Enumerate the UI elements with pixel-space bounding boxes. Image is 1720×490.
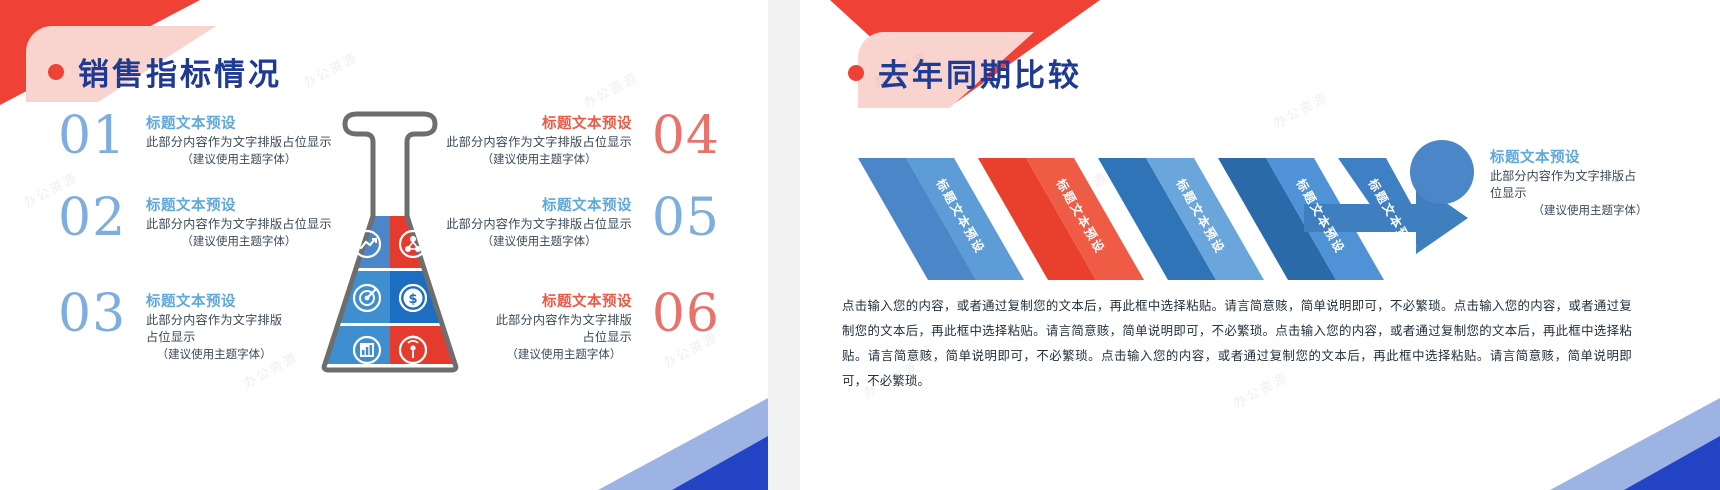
callout-note: （建议使用主题字体）: [1500, 202, 1680, 219]
svg-text:$: $: [408, 292, 417, 307]
page-title: 去年同期比较: [878, 50, 1082, 95]
item-note: （建议使用主题字体）: [146, 346, 282, 363]
item-number: 03: [58, 288, 146, 340]
corner-decoration-blue: [672, 436, 768, 490]
slide-sales-metrics: 销售指标情况 01 标题文本预设 此部分内容作为文字排版占位显示 （建议使用主题…: [0, 0, 768, 490]
item-title: 标题文本预设: [146, 292, 282, 312]
item-description: 此部分内容作为文字排版 占位显示: [496, 312, 632, 346]
item-number: 05: [632, 192, 720, 244]
list-item-06[interactable]: 标题文本预设 此部分内容作为文字排版 占位显示 （建议使用主题字体） 06: [496, 288, 720, 363]
watermark: 办公资源: [1269, 87, 1331, 132]
flask-segments: [320, 216, 460, 376]
callout-title: 标题文本预设: [1490, 146, 1580, 167]
page-title: 销售指标情况: [78, 49, 282, 94]
header-bullet-dot: [48, 64, 64, 80]
item-description: 此部分内容作为文字排版 占位显示: [146, 312, 282, 346]
ribbon-end-circle: [1410, 140, 1474, 204]
item-number: 01: [58, 110, 146, 162]
flask-infographic: $: [295, 98, 485, 383]
header-bullet-dot: [848, 65, 864, 81]
item-number: 06: [632, 288, 720, 340]
list-item-02[interactable]: 02 标题文本预设 此部分内容作为文字排版占位显示 （建议使用主题字体）: [58, 192, 332, 250]
item-number: 02: [58, 192, 146, 244]
item-note: （建议使用主题字体）: [496, 346, 632, 363]
list-item-03[interactable]: 03 标题文本预设 此部分内容作为文字排版 占位显示 （建议使用主题字体）: [58, 288, 282, 363]
slide-header: 销售指标情况: [48, 49, 282, 94]
list-item-01[interactable]: 01 标题文本预设 此部分内容作为文字排版占位显示 （建议使用主题字体）: [58, 110, 332, 168]
corner-decoration-blue: [1624, 436, 1720, 490]
zigzag-svg: 标题文本预设 标题文本预设 标题文本预设 标题文本预设 标题文本预设: [858, 130, 1478, 285]
flask-icon-dollar-coin-icon: $: [400, 285, 426, 311]
watermark: 办公资源: [579, 67, 641, 112]
flask-svg: $: [295, 98, 485, 383]
slide-yoy-comparison: 去年同期比较: [800, 0, 1720, 490]
item-title: 标题文本预设: [496, 292, 632, 312]
list-item-05[interactable]: 标题文本预设 此部分内容作为文字排版占位显示 （建议使用主题字体） 05: [446, 192, 720, 250]
list-item-04[interactable]: 标题文本预设 此部分内容作为文字排版占位显示 （建议使用主题字体） 04: [446, 110, 720, 168]
callout-description: 此部分内容作为文字排版占 位显示: [1490, 168, 1670, 202]
body-paragraph: 点击输入您的内容，或者通过复制您的文本后，再此框中选择粘贴。请言简意赅，简单说明…: [842, 293, 1632, 393]
item-number: 04: [632, 110, 720, 162]
watermark: 办公资源: [299, 47, 361, 92]
slide-deck-canvas: 销售指标情况 01 标题文本预设 此部分内容作为文字排版占位显示 （建议使用主题…: [0, 0, 1720, 490]
slide-header: 去年同期比较: [848, 50, 1082, 95]
slide-gap-divider: [768, 0, 800, 490]
zigzag-ribbon-chart: 标题文本预设 标题文本预设 标题文本预设 标题文本预设 标题文本预设: [858, 130, 1418, 280]
